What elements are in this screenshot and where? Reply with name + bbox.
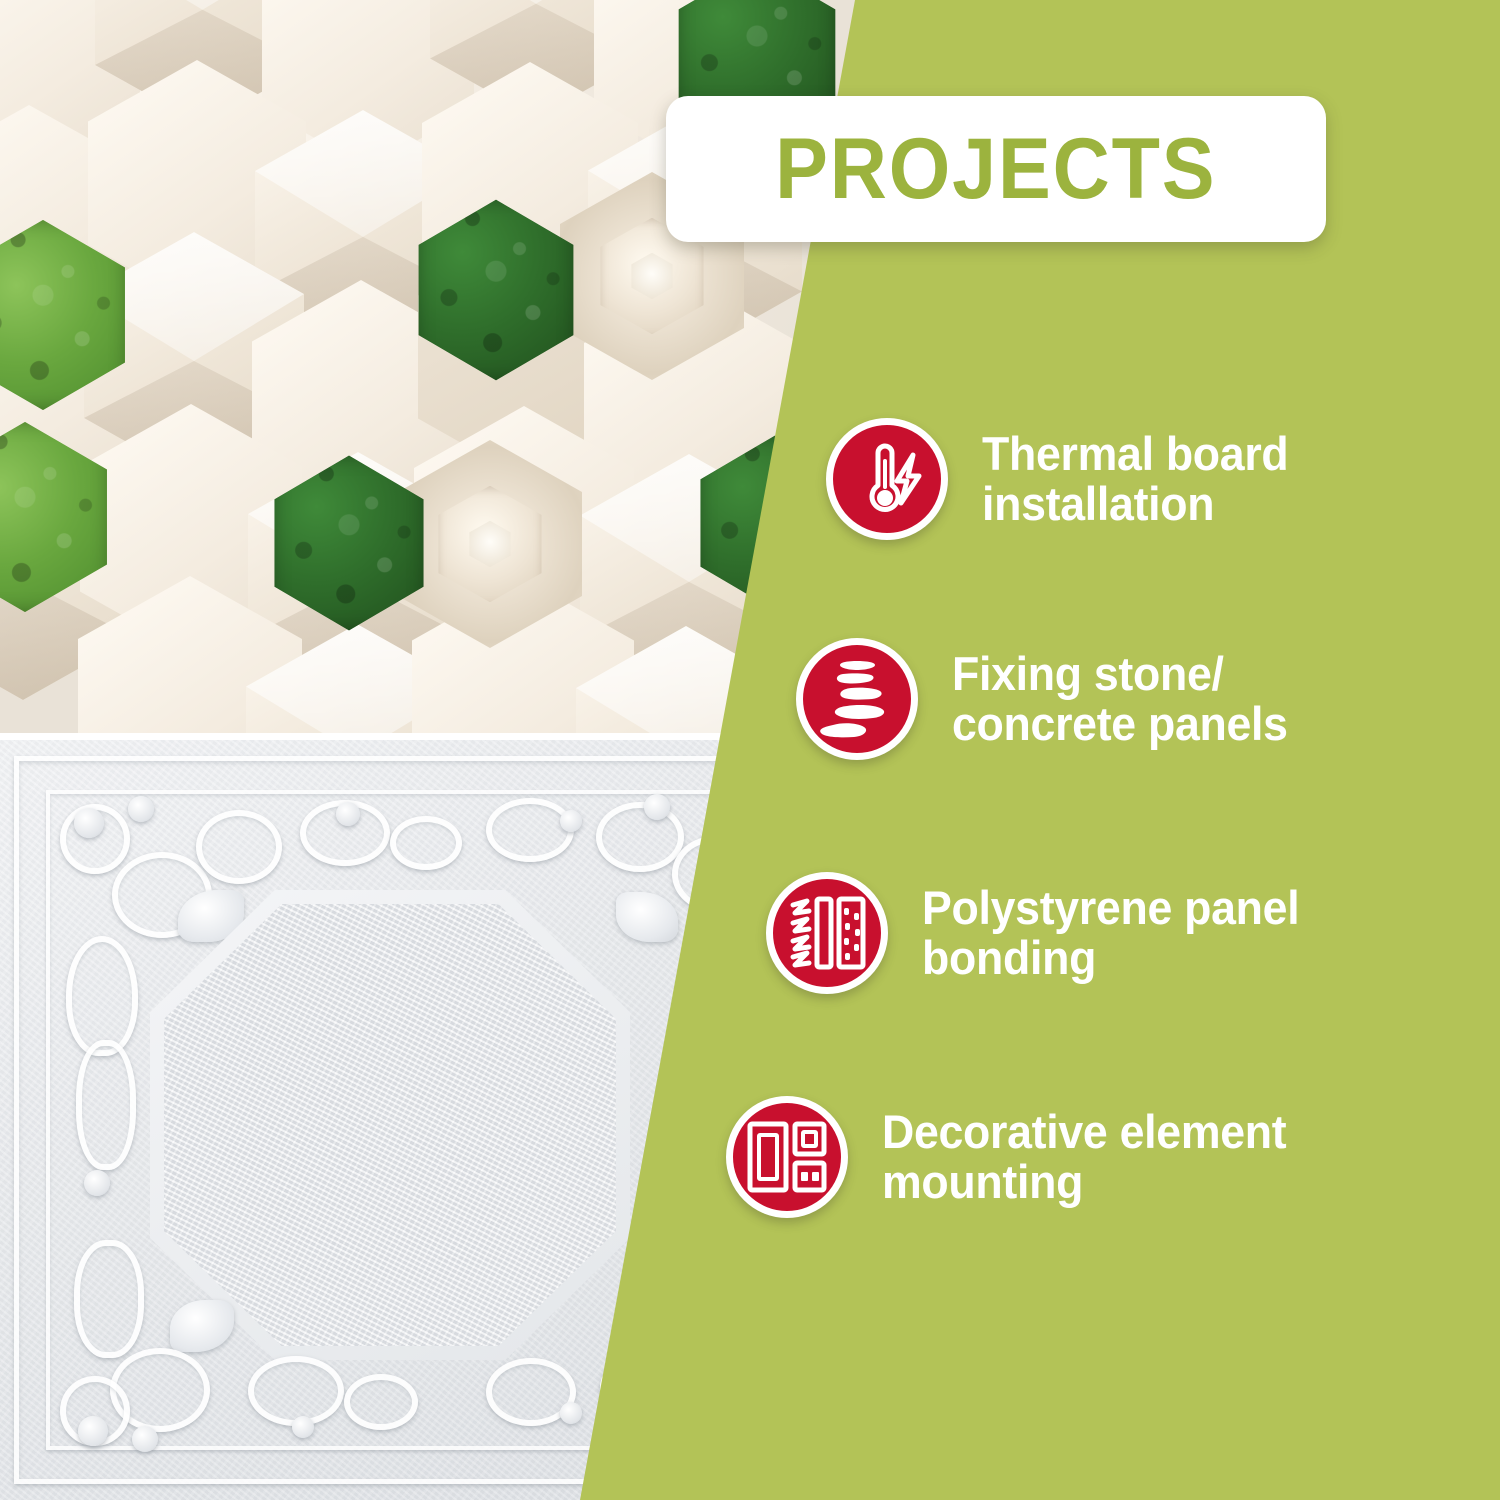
feature-label: Decorative element mounting <box>882 1107 1286 1207</box>
feature-label: Polystyrene panel bonding <box>922 883 1299 983</box>
stacked-stones-icon <box>796 638 918 760</box>
page-title: PROJECTS <box>775 126 1216 212</box>
decorative-frames-icon <box>726 1096 848 1218</box>
feature-item-fixing-stone[interactable]: Fixing stone/ concrete panels <box>796 638 1305 760</box>
polystyrene-panel-icon <box>766 872 888 994</box>
feature-item-thermal-board[interactable]: Thermal board installation <box>826 418 1305 540</box>
feature-item-polystyrene-bonding[interactable]: Polystyrene panel bonding <box>766 872 1319 994</box>
thermometer-lightning-icon <box>826 418 948 540</box>
title-card: PROJECTS <box>666 96 1326 242</box>
octagonal-centre-panel <box>150 890 630 1360</box>
feature-item-decorative-mounting[interactable]: Decorative element mounting <box>726 1096 1308 1218</box>
promo-graphic: PROJECTS Thermal board installation <box>0 0 1500 1500</box>
feature-label: Fixing stone/ concrete panels <box>952 649 1288 749</box>
feature-label: Thermal board installation <box>982 429 1288 529</box>
